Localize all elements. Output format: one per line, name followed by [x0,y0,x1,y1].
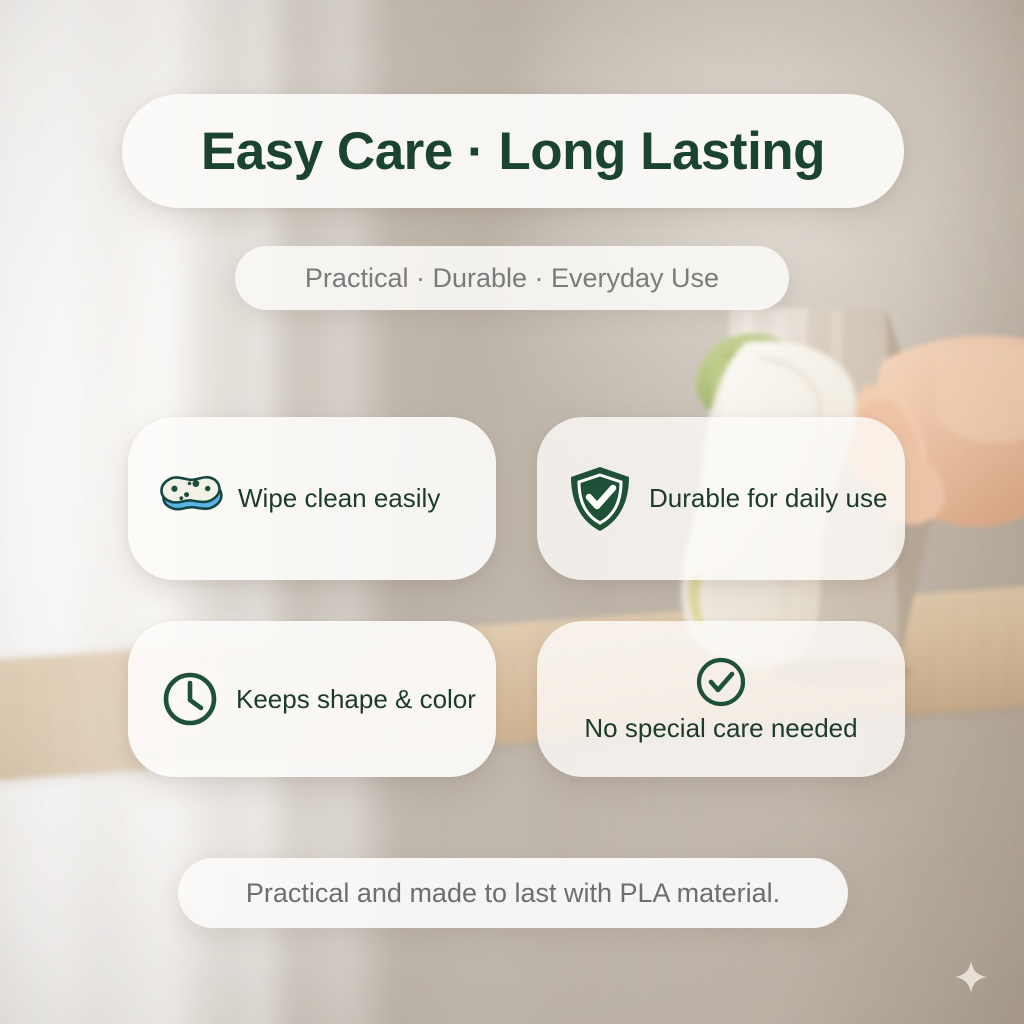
clock-icon [160,669,220,729]
check-circle-icon [694,655,748,709]
feature-card-wipe-clean[interactable]: Wipe clean easily [128,417,496,580]
sparkle-icon [954,960,988,994]
poster-canvas: Easy Care · Long Lasting Practical · Dur… [0,0,1024,1024]
page-title: Easy Care · Long Lasting [201,121,825,182]
sponge-icon [156,462,230,536]
footer-pill: Practical and made to last with PLA mate… [178,858,848,928]
feature-card-durable[interactable]: Durable for daily use [537,417,905,580]
page-subtitle: Practical · Durable · Everyday Use [305,263,719,294]
subtitle-pill: Practical · Durable · Everyday Use [235,246,789,310]
feature-label: Keeps shape & color [236,684,476,715]
footer-text: Practical and made to last with PLA mate… [246,878,780,909]
feature-label: No special care needed [584,713,857,744]
shield-check-icon [567,464,633,534]
feature-label: Durable for daily use [649,483,887,514]
feature-label: Wipe clean easily [238,483,440,514]
content-overlay: Easy Care · Long Lasting Practical · Dur… [0,0,1024,1024]
title-pill: Easy Care · Long Lasting [122,94,904,208]
feature-card-no-special-care[interactable]: No special care needed [537,621,905,777]
feature-card-keeps-shape[interactable]: Keeps shape & color [128,621,496,777]
